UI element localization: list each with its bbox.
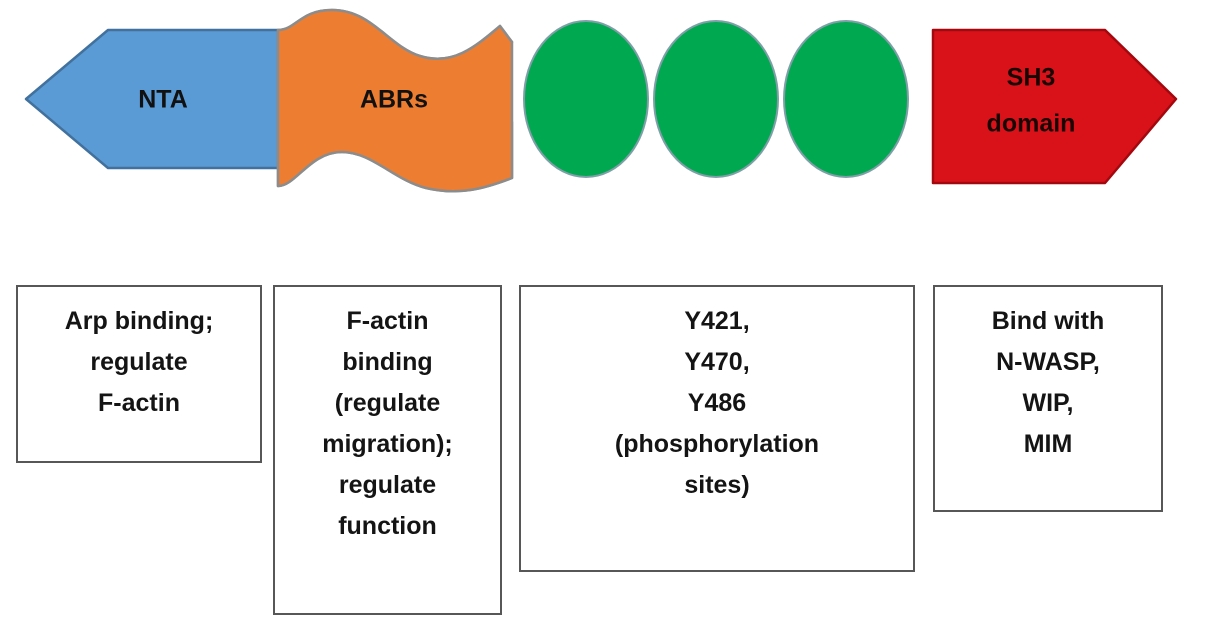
annotation-line: sites) [684,465,749,506]
nta-label: NTA [138,86,188,114]
annotation-line: Y486 [688,383,746,424]
annotation-line: (regulate [335,383,441,424]
repeat-2-ellipse-icon [654,21,778,177]
domain-shape-repeat-3 [784,21,908,177]
sh3-label-line-1: SH3 [1007,64,1056,92]
repeat-3-ellipse-icon [784,21,908,177]
domain-shape-repeat-1 [524,21,648,177]
domain-shape-sh3: SH3 domain [933,30,1176,183]
annotation-box-abrs: F-actin binding (regulate migration); re… [273,285,502,615]
annotation-line: Arp binding; [65,301,214,342]
domain-diagram: NTA ABRs SH3 domain [0,0,1205,215]
sh3-label-line-2: domain [987,110,1076,138]
annotation-line: Bind with [992,301,1104,342]
annotation-box-sh3: Bind with N-WASP, WIP, MIM [933,285,1163,512]
domain-shape-nta: NTA [26,30,278,168]
annotation-line: (phosphorylation [615,424,819,465]
annotation-line: migration); [322,424,453,465]
domain-shape-abrs: ABRs [278,10,512,191]
annotation-box-repeats: Y421, Y470, Y486 (phosphorylation sites) [519,285,915,572]
sh3-pentagon-icon [933,30,1176,183]
annotation-box-nta: Arp binding; regulate F-actin [16,285,262,463]
annotation-line: Y421, [684,301,749,342]
annotation-line: regulate [339,465,436,506]
annotation-line: F-actin [347,301,429,342]
annotation-line: MIM [1024,424,1073,465]
annotation-line: binding [342,342,432,383]
abrs-label: ABRs [360,86,428,114]
annotation-line: WIP, [1023,383,1074,424]
annotation-line: N-WASP, [996,342,1100,383]
repeat-1-ellipse-icon [524,21,648,177]
annotation-line: function [338,506,437,547]
domain-shape-repeat-2 [654,21,778,177]
annotation-line: Y470, [684,342,749,383]
annotation-line: regulate [90,342,187,383]
annotation-line: F-actin [98,383,180,424]
